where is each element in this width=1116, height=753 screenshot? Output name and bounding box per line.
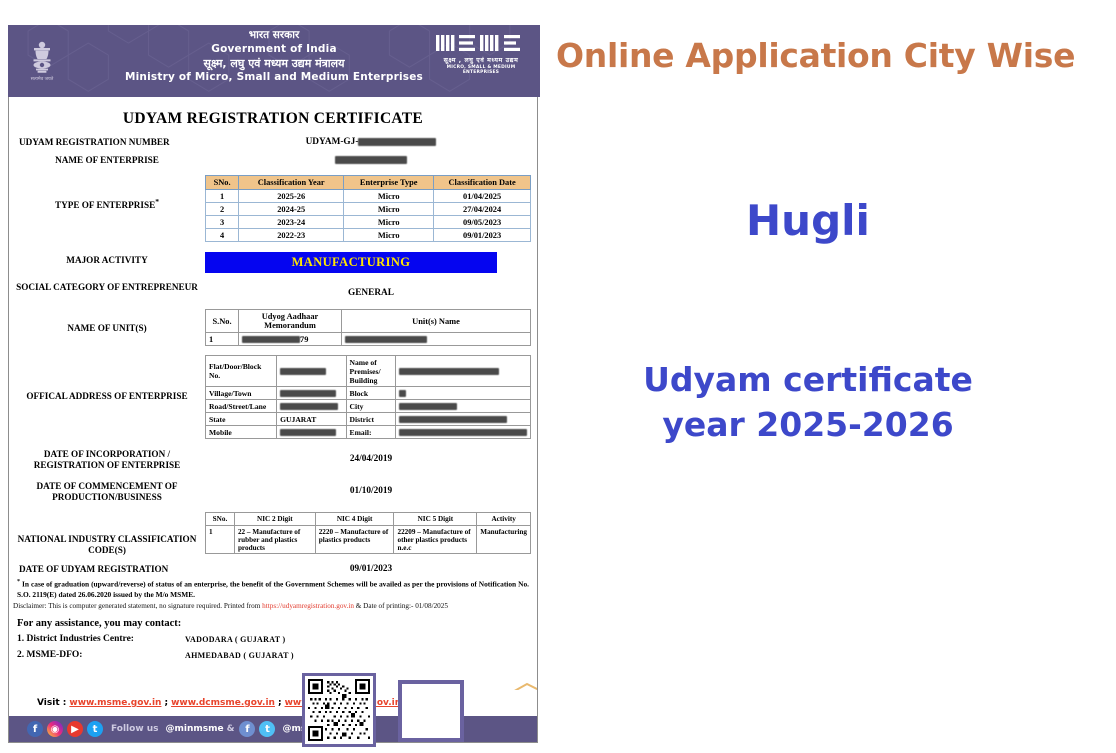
cell-uam: 79: [239, 333, 342, 346]
cell-flat-label: Flat/Door/Block No.: [206, 356, 277, 387]
cell-road-label: Road/Street/Lane: [206, 400, 277, 413]
cell-email-label: Email:: [346, 426, 395, 439]
caption-line-1: Udyam certificate: [548, 358, 1068, 403]
field-official-address: OFFICAL ADDRESS OF ENTERPRISE Flat/Door/…: [9, 355, 537, 439]
cell-type: Micro: [344, 203, 434, 216]
right-panel: Online Application City Wise Hugli Udyam…: [548, 0, 1116, 753]
udyam-reg-date-value: 09/01/2023: [205, 564, 537, 574]
msme-english: MICRO, SMALL & MEDIUM ENTERPRISES: [432, 65, 530, 75]
cell-date: 01/04/2025: [434, 190, 531, 203]
graduation-footnote: * In case of graduation (upward/reverse)…: [9, 575, 537, 599]
commencement-label: DATE OF COMMENCEMENT OF PRODUCTION/BUSIN…: [9, 481, 205, 503]
cell-district-label: District: [346, 413, 395, 426]
cell-village-value: [277, 387, 346, 400]
cell-block-label: Block: [346, 387, 395, 400]
major-activity-banner: MANUFACTURING: [205, 252, 497, 273]
cell-type: Micro: [344, 190, 434, 203]
disclaimer: Disclaimer: This is computer generated s…: [9, 600, 537, 611]
certificate-year-caption: Udyam certificate year 2025-2026: [548, 358, 1068, 447]
asterisk-marker: *: [17, 579, 20, 585]
cell-sno: 1: [206, 333, 239, 346]
caption-line-2: year 2025-2026: [548, 403, 1068, 448]
cell-date: 27/04/2024: [434, 203, 531, 216]
udyam-reg-date-label: DATE OF UDYAM REGISTRATION: [9, 564, 205, 575]
facebook-icon[interactable]: f: [239, 721, 255, 737]
enterprise-name-value: [205, 155, 537, 165]
table-header-row: SNo. Classification Year Enterprise Type…: [206, 176, 531, 190]
table-row: Mobile Email:: [206, 426, 531, 439]
cell-city-value: [396, 400, 531, 413]
field-incorporation-date: DATE OF INCORPORATION / REGISTRATION OF …: [9, 449, 537, 471]
units-table: S.No. Udyog Aadhaar Memorandum Unit(s) N…: [205, 309, 531, 346]
cell-state-value: GUJARAT: [277, 413, 346, 426]
table-row: Village/Town Block: [206, 387, 531, 400]
major-activity-label: MAJOR ACTIVITY: [9, 252, 205, 266]
col-sno: SNo.: [206, 176, 239, 190]
cell-nic5: 22209 – Manufacture of other plastics pr…: [394, 526, 477, 554]
name-of-units-label: NAME OF UNIT(S): [9, 309, 205, 334]
incorporation-label: DATE OF INCORPORATION / REGISTRATION OF …: [9, 449, 205, 471]
contact-label: 1. District Industries Centre:: [17, 634, 185, 644]
visit-label: Visit :: [37, 698, 66, 708]
field-udyam-registration-date: DATE OF UDYAM REGISTRATION 09/01/2023: [9, 564, 537, 575]
assistance-heading: For any assistance, you may contact:: [9, 611, 537, 631]
cell-year: 2025-26: [239, 190, 344, 203]
qr-code-image: [308, 679, 370, 741]
cell-sno: 1: [206, 526, 235, 554]
col-nic5: NIC 5 Digit: [394, 513, 477, 526]
cell-state-label: State: [206, 413, 277, 426]
contact-dic: 1. District Industries Centre: VADODARA …: [9, 631, 537, 647]
field-social-category: SOCIAL CATEGORY OF ENTREPRENEUR GENERAL: [9, 282, 537, 298]
registration-number-label: UDYAM REGISTRATION NUMBER: [9, 137, 205, 148]
table-row: 3 2023-24 Micro 09/05/2023: [206, 216, 531, 229]
msme-hindi: सूक्ष्म , लघु एवं मध्यम उद्यम: [432, 55, 530, 64]
cell-year: 2024-25: [239, 203, 344, 216]
cell-district-value: [396, 413, 531, 426]
cell-date: 09/01/2023: [434, 229, 531, 242]
type-of-enterprise-label: TYPE OF ENTERPRISE*: [9, 175, 205, 211]
cell-flat-value: [277, 356, 346, 387]
twitter-icon[interactable]: t: [259, 721, 275, 737]
contact-value: VADODARA ( GUJARAT ): [185, 634, 285, 644]
commencement-value: 01/10/2019: [205, 481, 537, 496]
footnote-text: In case of graduation (upward/reverse) o…: [17, 580, 529, 599]
separator: ;: [278, 698, 282, 708]
table-row: 1 79: [206, 333, 531, 346]
col-classification-date: Classification Date: [434, 176, 531, 190]
field-type-of-enterprise: TYPE OF ENTERPRISE* SNo. Classification …: [9, 175, 537, 242]
youtube-icon[interactable]: ▶: [67, 721, 83, 737]
page-root: सत्यमेव जयते भारत सरकार Government of In…: [0, 0, 1116, 753]
cell-nic4: 2220 – Manufacture of plastics products: [315, 526, 394, 554]
udyam-portal-link[interactable]: https://udyamregistration.gov.in: [262, 602, 354, 610]
handle-minmsme[interactable]: @minmsme: [166, 724, 224, 734]
cell-year: 2023-24: [239, 216, 344, 229]
contact-label: 2. MSME-DFO:: [17, 650, 185, 660]
table-header-row: S.No. Udyog Aadhaar Memorandum Unit(s) N…: [206, 310, 531, 333]
facebook-icon[interactable]: f: [27, 721, 43, 737]
table-row: State GUJARAT District: [206, 413, 531, 426]
cell-mobile-label: Mobile: [206, 426, 277, 439]
cell-sno: 4: [206, 229, 239, 242]
certificate-header: सत्यमेव जयते भारत सरकार Government of In…: [8, 25, 540, 97]
cell-year: 2022-23: [239, 229, 344, 242]
table-row: 1 22 – Manufacture of rubber and plastic…: [206, 526, 531, 554]
page-title: Online Application City Wise: [556, 36, 1116, 75]
cell-block-value: [396, 387, 531, 400]
msme-wordmark-icon: [435, 33, 527, 53]
follow-us-label: Follow us: [111, 724, 159, 734]
col-classification-year: Classification Year: [239, 176, 344, 190]
address-table: Flat/Door/Block No. Name of Premises/ Bu…: [205, 355, 531, 439]
cell-sno: 1: [206, 190, 239, 203]
cell-unit-name: [342, 333, 531, 346]
city-name: Hugli: [548, 196, 1068, 245]
asterisk-marker: *: [155, 197, 159, 206]
cell-premises-label: Name of Premises/ Building: [346, 356, 395, 387]
cell-sno: 3: [206, 216, 239, 229]
cell-road-value: [277, 400, 346, 413]
redaction-bar: [335, 156, 407, 164]
certificate-title: UDYAM REGISTRATION CERTIFICATE: [9, 97, 537, 134]
enterprise-name-label: NAME OF ENTERPRISE: [9, 155, 205, 166]
incorporation-value: 24/04/2019: [205, 449, 537, 464]
qr-code: [302, 673, 376, 747]
certificate-body: UDYAM REGISTRATION CERTIFICATE UDYAM REG…: [8, 97, 538, 743]
social-category-value: GENERAL: [205, 282, 537, 298]
table-row: 1 2025-26 Micro 01/04/2025: [206, 190, 531, 203]
table-row: Road/Street/Lane City: [206, 400, 531, 413]
udyam-certificate: सत्यमेव जयते भारत सरकार Government of In…: [8, 25, 540, 747]
twitter-icon[interactable]: t: [87, 721, 103, 737]
redaction-bar: [358, 138, 436, 146]
classification-table: SNo. Classification Year Enterprise Type…: [205, 175, 531, 242]
field-registration-number: UDYAM REGISTRATION NUMBER UDYAM-GJ-: [9, 137, 537, 148]
cell-type: Micro: [344, 229, 434, 242]
col-sno: S.No.: [206, 310, 239, 333]
table-row: 4 2022-23 Micro 09/01/2023: [206, 229, 531, 242]
ampersand: &: [227, 724, 235, 734]
nic-label: NATIONAL INDUSTRY CLASSIFICATION CODE(S): [9, 512, 205, 556]
cell-email-value: [396, 426, 531, 439]
nic-table: SNo. NIC 2 Digit NIC 4 Digit NIC 5 Digit…: [205, 512, 531, 554]
col-nic2: NIC 2 Digit: [234, 513, 315, 526]
social-category-label: SOCIAL CATEGORY OF ENTREPRENEUR: [9, 282, 205, 293]
cell-date: 09/05/2023: [434, 216, 531, 229]
table-row: 2 2024-25 Micro 27/04/2024: [206, 203, 531, 216]
blank-placeholder-box: [398, 680, 464, 742]
disclaimer-post: & Date of printing:- 01/08/2025: [354, 602, 448, 610]
cell-premises-value: [396, 356, 531, 387]
registration-number-value: UDYAM-GJ-: [205, 137, 537, 147]
table-header-row: SNo. NIC 2 Digit NIC 4 Digit NIC 5 Digit…: [206, 513, 531, 526]
cell-mobile-value: [277, 426, 346, 439]
field-nic-codes: NATIONAL INDUSTRY CLASSIFICATION CODE(S)…: [9, 512, 537, 556]
field-name-of-units: NAME OF UNIT(S) S.No. Udyog Aadhaar Memo…: [9, 309, 537, 346]
col-nic4: NIC 4 Digit: [315, 513, 394, 526]
link-dcmsme-gov[interactable]: www.dcmsme.gov.in: [171, 698, 275, 708]
official-address-label: OFFICAL ADDRESS OF ENTERPRISE: [9, 355, 205, 402]
col-uam: Udyog Aadhaar Memorandum: [239, 310, 342, 333]
link-msme-gov[interactable]: www.msme.gov.in: [69, 698, 161, 708]
col-enterprise-type: Enterprise Type: [344, 176, 434, 190]
separator: ;: [164, 698, 168, 708]
col-unit-name: Unit(s) Name: [342, 310, 531, 333]
cell-type: Micro: [344, 216, 434, 229]
contact-value: AHMEDABAD ( GUJARAT ): [185, 650, 294, 660]
col-activity: Activity: [477, 513, 531, 526]
table-row: Flat/Door/Block No. Name of Premises/ Bu…: [206, 356, 531, 387]
col-sno: SNo.: [206, 513, 235, 526]
cell-city-label: City: [346, 400, 395, 413]
field-enterprise-name: NAME OF ENTERPRISE: [9, 155, 537, 166]
cell-activity: Manufacturing: [477, 526, 531, 554]
field-major-activity: MAJOR ACTIVITY MANUFACTURING: [9, 252, 537, 273]
instagram-icon[interactable]: ◉: [47, 721, 63, 737]
contact-msme-dfo: 2. MSME-DFO: AHMEDABAD ( GUJARAT ): [9, 647, 537, 663]
disclaimer-pre: Disclaimer: This is computer generated s…: [13, 602, 262, 610]
field-commencement-date: DATE OF COMMENCEMENT OF PRODUCTION/BUSIN…: [9, 481, 537, 503]
cell-sno: 2: [206, 203, 239, 216]
msme-logo: सूक्ष्म , लघु एवं मध्यम उद्यम MICRO, SMA…: [432, 33, 530, 75]
cell-nic2: 22 – Manufacture of rubber and plastics …: [234, 526, 315, 554]
cell-village-label: Village/Town: [206, 387, 277, 400]
